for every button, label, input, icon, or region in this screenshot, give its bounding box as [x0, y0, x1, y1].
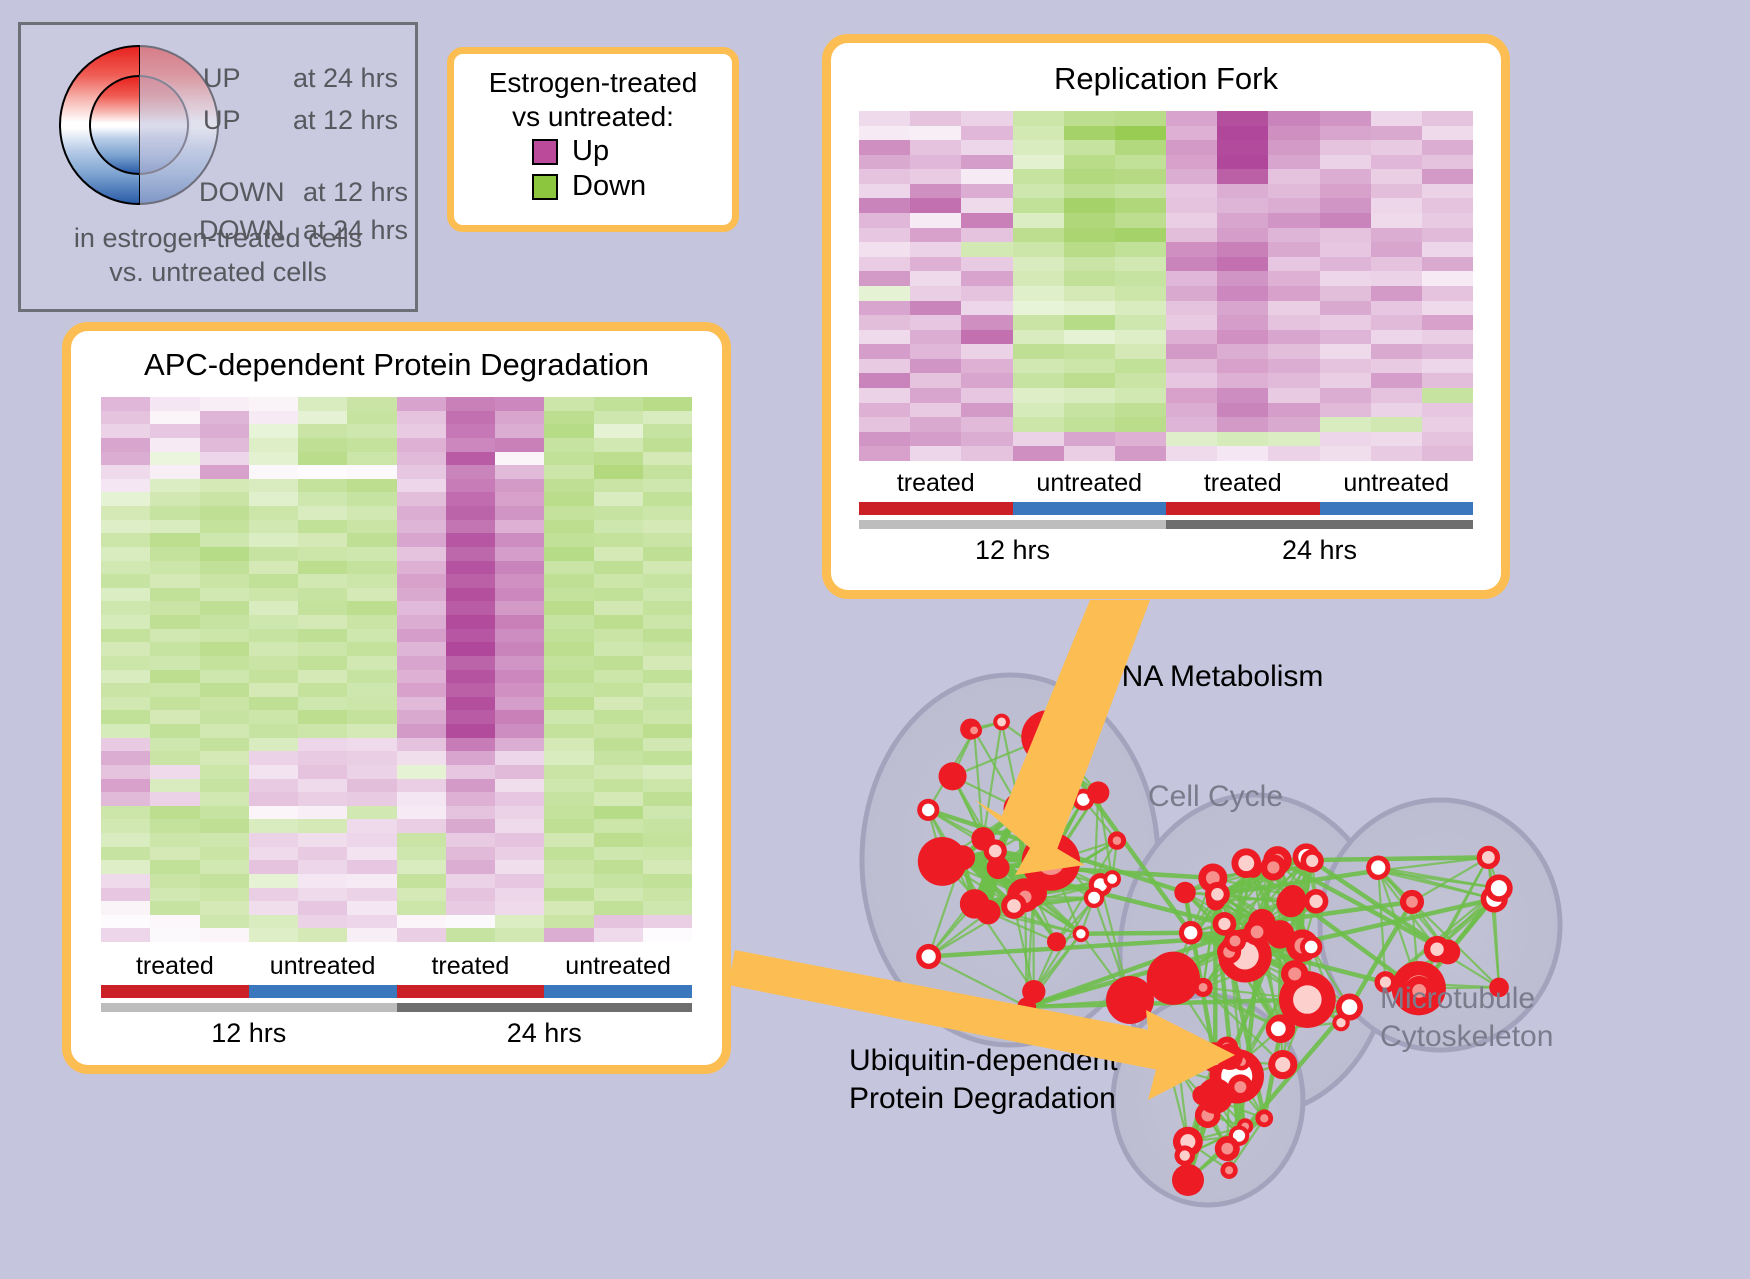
heatmap-cell [1217, 330, 1268, 345]
heatmap-cell [544, 888, 593, 902]
heatmap-cell [544, 751, 593, 765]
heatmap-cell [495, 397, 544, 411]
heatmap-cell [643, 901, 692, 915]
heatmap-cell [1013, 242, 1064, 257]
heatmap-cell [1422, 301, 1473, 316]
heatmap-cell [200, 928, 249, 942]
heatmap-cell [1320, 198, 1371, 213]
heatmap-cell [1422, 446, 1473, 461]
heatmap-cell [101, 533, 150, 547]
heatmap-cell [1217, 155, 1268, 170]
network-node[interactable] [916, 944, 941, 969]
node-inner-core [1218, 918, 1230, 930]
heatmap-cell [961, 242, 1012, 257]
heatmap-cell [544, 874, 593, 888]
heatmap-cell [910, 315, 961, 330]
sample-labels-replication: treated untreated treated untreated [859, 469, 1473, 498]
heatmap-cell [495, 697, 544, 711]
heatmap-cell [495, 915, 544, 929]
node-inner-core [1225, 1166, 1233, 1174]
heatmap-cell [150, 642, 199, 656]
heatmap-cell [1371, 126, 1422, 141]
heatmap-cell [1013, 286, 1064, 301]
heatmap-cell [150, 738, 199, 752]
heatmap-cell [249, 779, 298, 793]
node-inner-core [932, 851, 953, 872]
heatmap-cell [544, 697, 593, 711]
heatmap-cell [859, 111, 910, 126]
heatmap-cell [1115, 432, 1166, 447]
heatmap-cell [910, 359, 961, 374]
heatmap-cell [101, 411, 150, 425]
heatmap-cell [1268, 301, 1319, 316]
heatmap-cell [544, 765, 593, 779]
node-inner-core [1238, 855, 1254, 871]
heatmap-cell [495, 452, 544, 466]
heatmap-cell [1320, 432, 1371, 447]
network-node[interactable] [1300, 849, 1323, 872]
heatmap-cell [859, 301, 910, 316]
heatmap-cell [594, 520, 643, 534]
heatmap-cell [1371, 271, 1422, 286]
heatmap-cell [298, 710, 347, 724]
heatmap-cell [594, 533, 643, 547]
heatmap-cell [1268, 184, 1319, 199]
node-inner-core [1234, 1081, 1246, 1093]
heatmap-cell [1013, 271, 1064, 286]
heatmap-cell [200, 629, 249, 643]
heatmap-cell [544, 738, 593, 752]
heatmap-cell [446, 738, 495, 752]
heatmap-cell [200, 819, 249, 833]
cluster-label-microtubule-cytoskeleton: Microtubule Cytoskeleton [1380, 980, 1553, 1055]
node-inner-core [1406, 896, 1418, 908]
network-node[interactable] [1106, 976, 1154, 1024]
heatmap-cell [397, 492, 446, 506]
heatmap-cell [495, 928, 544, 942]
heatmap-cell [446, 438, 495, 452]
heatmap-cell [961, 330, 1012, 345]
heatmap-cell [347, 547, 396, 561]
network-node[interactable] [1366, 855, 1390, 879]
network-node[interactable] [1047, 932, 1066, 951]
heatmap-cell [1268, 359, 1319, 374]
heatmap-cell [594, 888, 643, 902]
heatmap-cell [1115, 315, 1166, 330]
heatmap-cell [1320, 257, 1371, 272]
panel-replication-title: Replication Fork [831, 61, 1501, 97]
network-node[interactable] [1022, 980, 1045, 1003]
time-bars-apc [101, 1003, 692, 1012]
heatmap-cell [446, 670, 495, 684]
network-node[interactable] [1084, 888, 1104, 908]
heatmap-cell [495, 901, 544, 915]
heatmap-cell [594, 860, 643, 874]
network-node[interactable] [966, 722, 982, 738]
heatmap-cell [249, 888, 298, 902]
heatmap-cell [544, 806, 593, 820]
heatmap-cell [298, 724, 347, 738]
network-node[interactable] [1336, 994, 1363, 1021]
heatmap-cell [594, 547, 643, 561]
network-node[interactable] [950, 845, 975, 870]
heatmap-cell [347, 465, 396, 479]
heatmap-cell [150, 710, 199, 724]
network-node[interactable] [1281, 960, 1309, 988]
heatmap-cell [1064, 446, 1115, 461]
heatmap-cell [1320, 228, 1371, 243]
network-node[interactable] [1179, 921, 1203, 945]
heatmap-cell [298, 819, 347, 833]
heatmap-cell [544, 561, 593, 575]
heatmap-cell [446, 833, 495, 847]
heatmap-cell [1320, 344, 1371, 359]
heatmap-cell [544, 724, 593, 738]
heatmap-cell [446, 547, 495, 561]
heatmap-cell [910, 169, 961, 184]
heatmap-cell [397, 792, 446, 806]
network-node[interactable] [976, 900, 1001, 925]
heatmap-cell [249, 533, 298, 547]
network-node[interactable] [993, 714, 1010, 731]
heatmap-cell [1013, 417, 1064, 432]
heatmap-cell [1217, 403, 1268, 418]
heatmap-cell [643, 411, 692, 425]
heatmap-cell [1217, 198, 1268, 213]
heatmap-cell [298, 792, 347, 806]
heatmap-cell [200, 492, 249, 506]
heatmap-cell [1115, 111, 1166, 126]
heatmap-cell [1320, 315, 1371, 330]
network-node[interactable] [1300, 936, 1322, 958]
legend-when-down-12: at 12 hrs [303, 177, 408, 208]
heatmap-cell [1371, 257, 1422, 272]
heatmap-cell [446, 779, 495, 793]
heatmap-cell [544, 819, 593, 833]
network-node[interactable] [1174, 1145, 1195, 1166]
heatmap-cell [101, 629, 150, 643]
heatmap-cell [347, 452, 396, 466]
pathway-network-diagram [800, 620, 1750, 1279]
heatmap-cell [495, 738, 544, 752]
sample-label-1: untreated [249, 952, 397, 981]
heatmap-cell [1064, 213, 1115, 228]
network-node[interactable] [1280, 885, 1306, 911]
node-inner-core [1088, 892, 1100, 904]
heatmap-cell [1268, 111, 1319, 126]
heatmap-cell [1115, 140, 1166, 155]
heatmap-cell [298, 574, 347, 588]
heatmap-cell [1217, 257, 1268, 272]
heatmap-cell [1268, 242, 1319, 257]
heatmap-cell [910, 388, 961, 403]
heatmap-cell [1320, 271, 1371, 286]
network-node[interactable] [1004, 792, 1036, 824]
heatmap-cell [249, 397, 298, 411]
heatmap-cell [200, 561, 249, 575]
heatmap-cell [249, 520, 298, 534]
heatmap-cell [1013, 228, 1064, 243]
heatmap-cell [1217, 432, 1268, 447]
network-node[interactable] [1215, 1136, 1240, 1161]
heatmap-cell [1115, 213, 1166, 228]
heatmap-cell [643, 561, 692, 575]
legend-caption-line2: vs. untreated cells [21, 255, 415, 289]
heatmap-cell [200, 615, 249, 629]
heatmap-cell [150, 915, 199, 929]
heatmap-cell [150, 928, 199, 942]
heatmap-cell [446, 533, 495, 547]
heatmap-cell [200, 438, 249, 452]
heatmap-cell [397, 833, 446, 847]
heatmap-cell [495, 874, 544, 888]
network-node[interactable] [1220, 1162, 1237, 1179]
heatmap-cell [643, 452, 692, 466]
heatmap-cell [1013, 111, 1064, 126]
time-bar-12hrs [101, 1003, 397, 1012]
heatmap-cell [101, 724, 150, 738]
heatmap-cell [495, 683, 544, 697]
node-inner-core [1162, 966, 1186, 990]
heatmap-cell [594, 438, 643, 452]
heatmap-cell [1268, 286, 1319, 301]
heatmap-cell [1217, 169, 1268, 184]
heatmap-cell [249, 738, 298, 752]
heatmap-cell [1217, 228, 1268, 243]
heatmap-cell [397, 547, 446, 561]
heatmap-cell [347, 806, 396, 820]
heatmap-cell [1115, 126, 1166, 141]
heatmap-cell [910, 111, 961, 126]
heatmap-cell [859, 344, 910, 359]
heatmap-cell [961, 446, 1012, 461]
heatmap-cell [200, 656, 249, 670]
heatmap-cell [446, 506, 495, 520]
heatmap-cell [397, 588, 446, 602]
heatmap-cell [1166, 169, 1217, 184]
heatmap-cell [961, 417, 1012, 432]
heatmap-cell [1371, 446, 1422, 461]
heatmap-cell [1422, 228, 1473, 243]
heatmap-cell [1371, 330, 1422, 345]
heatmap-cell [347, 397, 396, 411]
heatmap-cell [298, 533, 347, 547]
heatmap-cell [1422, 359, 1473, 374]
network-node[interactable] [917, 799, 939, 821]
heatmap-cell [200, 888, 249, 902]
network-node[interactable] [1073, 925, 1090, 942]
heatmap-cell [1013, 330, 1064, 345]
heatmap-cell [446, 411, 495, 425]
heatmap-cell [446, 492, 495, 506]
network-node[interactable] [939, 762, 967, 790]
network-node[interactable] [1197, 1078, 1233, 1114]
heatmap-cell [643, 588, 692, 602]
heatmap-cell [1013, 388, 1064, 403]
heatmap-cell [446, 792, 495, 806]
sample-labels-apc: treated untreated treated untreated [101, 952, 692, 981]
network-node[interactable] [1266, 1016, 1291, 1041]
heatmap-cell [150, 683, 199, 697]
sample-bars-apc [101, 985, 692, 998]
heatmap-cell [347, 833, 396, 847]
time-bar-12hrs [859, 520, 1166, 529]
heatmap-cell [495, 806, 544, 820]
heatmap-cell [397, 629, 446, 643]
heatmap-cell [101, 888, 150, 902]
network-node[interactable] [1477, 846, 1500, 869]
node-inner-core [1113, 836, 1122, 845]
heatmap-cell [347, 574, 396, 588]
heatmap-cell [643, 860, 692, 874]
heatmap-cell [859, 169, 910, 184]
node-inner-core [1371, 860, 1385, 874]
heatmap-cell [150, 588, 199, 602]
sample-bar-untreated-12 [1013, 502, 1167, 515]
network-node[interactable] [1169, 1060, 1189, 1080]
network-node[interactable] [1243, 918, 1270, 945]
heatmap-cell [200, 738, 249, 752]
heatmap-cell [150, 397, 199, 411]
heatmap-cell [101, 833, 150, 847]
heatmap-cell [594, 819, 643, 833]
heatmap-cell [1013, 213, 1064, 228]
legend-caption-line1: in estrogen-treated cells [21, 221, 415, 255]
network-node[interactable] [1021, 710, 1075, 764]
network-node[interactable] [1255, 1109, 1273, 1127]
network-node[interactable] [1260, 854, 1286, 880]
heatmap-cell [1064, 169, 1115, 184]
network-node[interactable] [1108, 831, 1126, 849]
heatmap-cell [1371, 228, 1422, 243]
heatmap-cell [397, 561, 446, 575]
sample-label-3: untreated [1320, 469, 1474, 498]
heatmap-cell [910, 271, 961, 286]
network-node[interactable] [1213, 912, 1237, 936]
node-inner-core [1271, 1021, 1286, 1036]
heatmap-cell [397, 397, 446, 411]
sample-bar-treated-12 [101, 985, 249, 998]
heatmap-cell [298, 697, 347, 711]
heatmap-cell [347, 424, 396, 438]
sample-label-3: untreated [544, 952, 692, 981]
heatmap-cell [910, 126, 961, 141]
cluster-label-ubiquitin-degradation: Ubiquitin-dependent Protein Degradation [849, 1042, 1118, 1117]
network-node[interactable] [1485, 874, 1513, 902]
network-node[interactable] [1001, 893, 1027, 919]
heatmap-cell [397, 615, 446, 629]
network-node[interactable] [1172, 1164, 1204, 1196]
heatmap-cell [1268, 373, 1319, 388]
heatmap-cell [1422, 198, 1473, 213]
network-node[interactable] [1205, 882, 1230, 907]
heatmap-cell [495, 765, 544, 779]
heatmap-cell [397, 670, 446, 684]
heatmap-cell [397, 710, 446, 724]
heatmap-cell [446, 860, 495, 874]
heatmap-cell [495, 779, 544, 793]
heatmap-cell [1268, 155, 1319, 170]
network-node[interactable] [1216, 1043, 1243, 1070]
heatmap-cell [200, 915, 249, 929]
network-node[interactable] [1231, 848, 1261, 878]
network-node[interactable] [1268, 1050, 1297, 1079]
heatmap-cell [200, 683, 249, 697]
heatmap-cell [859, 271, 910, 286]
network-node[interactable] [1304, 889, 1329, 914]
network-node[interactable] [1103, 870, 1121, 888]
heatmap-cell [101, 506, 150, 520]
heatmap-cell [298, 670, 347, 684]
heatmap-cell [1422, 140, 1473, 155]
heatmap-cell [594, 847, 643, 861]
heatmap-cell [347, 438, 396, 452]
heatmap-cell [594, 506, 643, 520]
heatmap-cell [544, 642, 593, 656]
heatmap-cell [1166, 111, 1217, 126]
heatmap-cell [643, 833, 692, 847]
heatmap-cell [200, 424, 249, 438]
node-inner-core [1211, 888, 1224, 901]
heatmap-cell [910, 213, 961, 228]
heatmap-cell [1371, 111, 1422, 126]
heatmap-cell [150, 520, 199, 534]
heatmap-cell [859, 446, 910, 461]
network-node[interactable] [1400, 890, 1424, 914]
heatmap-cell [446, 656, 495, 670]
network-node[interactable] [1174, 882, 1195, 903]
heatmap-cell [910, 286, 961, 301]
heatmap-cell [150, 533, 199, 547]
heatmap-cell [1217, 184, 1268, 199]
heatmap-cell [1371, 432, 1422, 447]
node-inner-core [970, 726, 978, 734]
sample-label-0: treated [101, 952, 249, 981]
legend-tag-up-12: UP [203, 105, 241, 136]
heatmap-cell [249, 697, 298, 711]
heatmap-cell [150, 765, 199, 779]
network-node[interactable] [1087, 781, 1109, 803]
heatmap-cell [1268, 198, 1319, 213]
heatmap-cell [910, 417, 961, 432]
heatmap-cell [544, 479, 593, 493]
node-inner-core [1076, 929, 1085, 938]
heatmap-cell [643, 683, 692, 697]
heatmap-cell [594, 765, 643, 779]
heatmap-cell [643, 397, 692, 411]
network-node[interactable] [1193, 978, 1212, 997]
heatmap-cell [1064, 359, 1115, 374]
network-node[interactable] [1147, 952, 1200, 1005]
heatmap-cell [446, 874, 495, 888]
heatmap-cell [249, 629, 298, 643]
heatmap-cell [446, 642, 495, 656]
heatmap-cell [397, 656, 446, 670]
heatmap-cell [397, 738, 446, 752]
heatmap-cell [1166, 432, 1217, 447]
heatmap-cell [1422, 315, 1473, 330]
heatmap-cell [101, 779, 150, 793]
heatmap-cell [1217, 446, 1268, 461]
heatmap-cell [1166, 242, 1217, 257]
network-node[interactable] [1424, 936, 1451, 963]
heatmap-cell [249, 833, 298, 847]
heatmap-cell [544, 520, 593, 534]
network-node[interactable] [984, 839, 1007, 862]
heatmap-cell [594, 738, 643, 752]
heatmap-cell [249, 683, 298, 697]
heatmap-cell [101, 588, 150, 602]
